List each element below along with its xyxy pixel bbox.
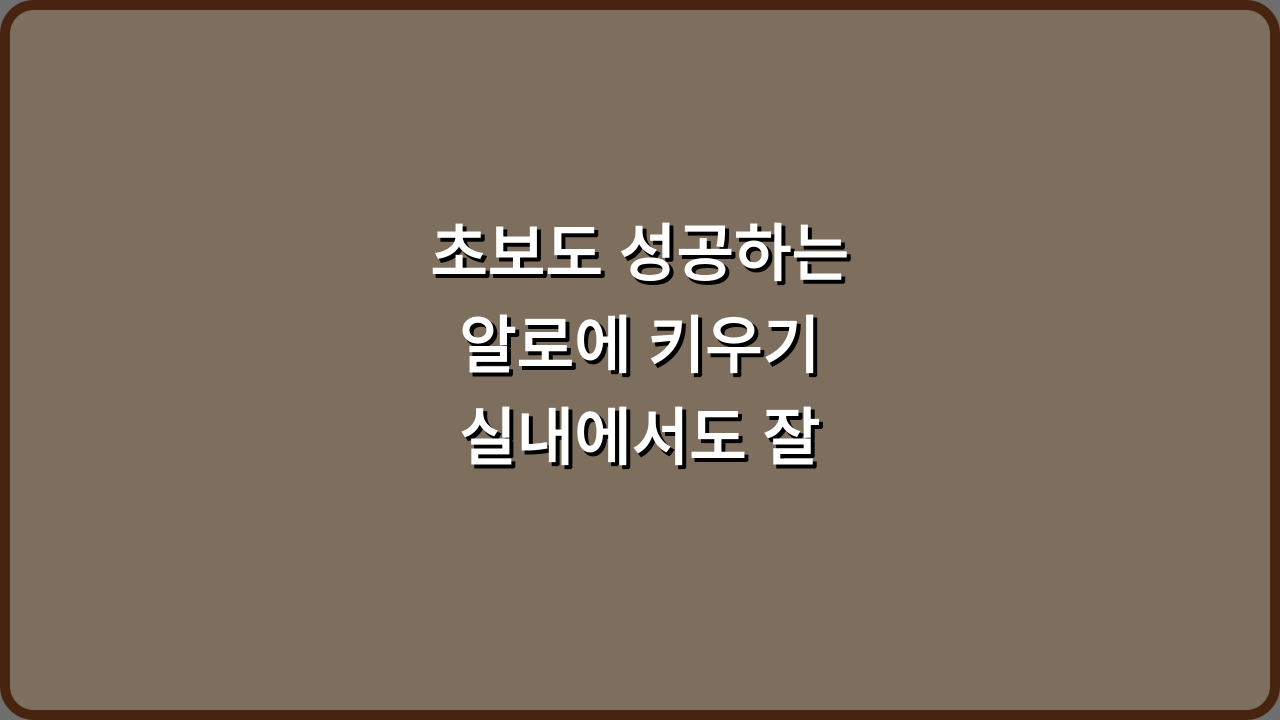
thumbnail-card: 초보도 성공하는 알로에 키우기 실내에서도 잘 — [0, 0, 1280, 720]
title-line-1: 초보도 성공하는 — [50, 209, 1230, 301]
title-line-2: 알로에 키우기 — [50, 301, 1230, 393]
title-line-3: 실내에서도 잘 — [50, 393, 1230, 485]
title-block: 초보도 성공하는 알로에 키우기 실내에서도 잘 — [10, 209, 1270, 485]
